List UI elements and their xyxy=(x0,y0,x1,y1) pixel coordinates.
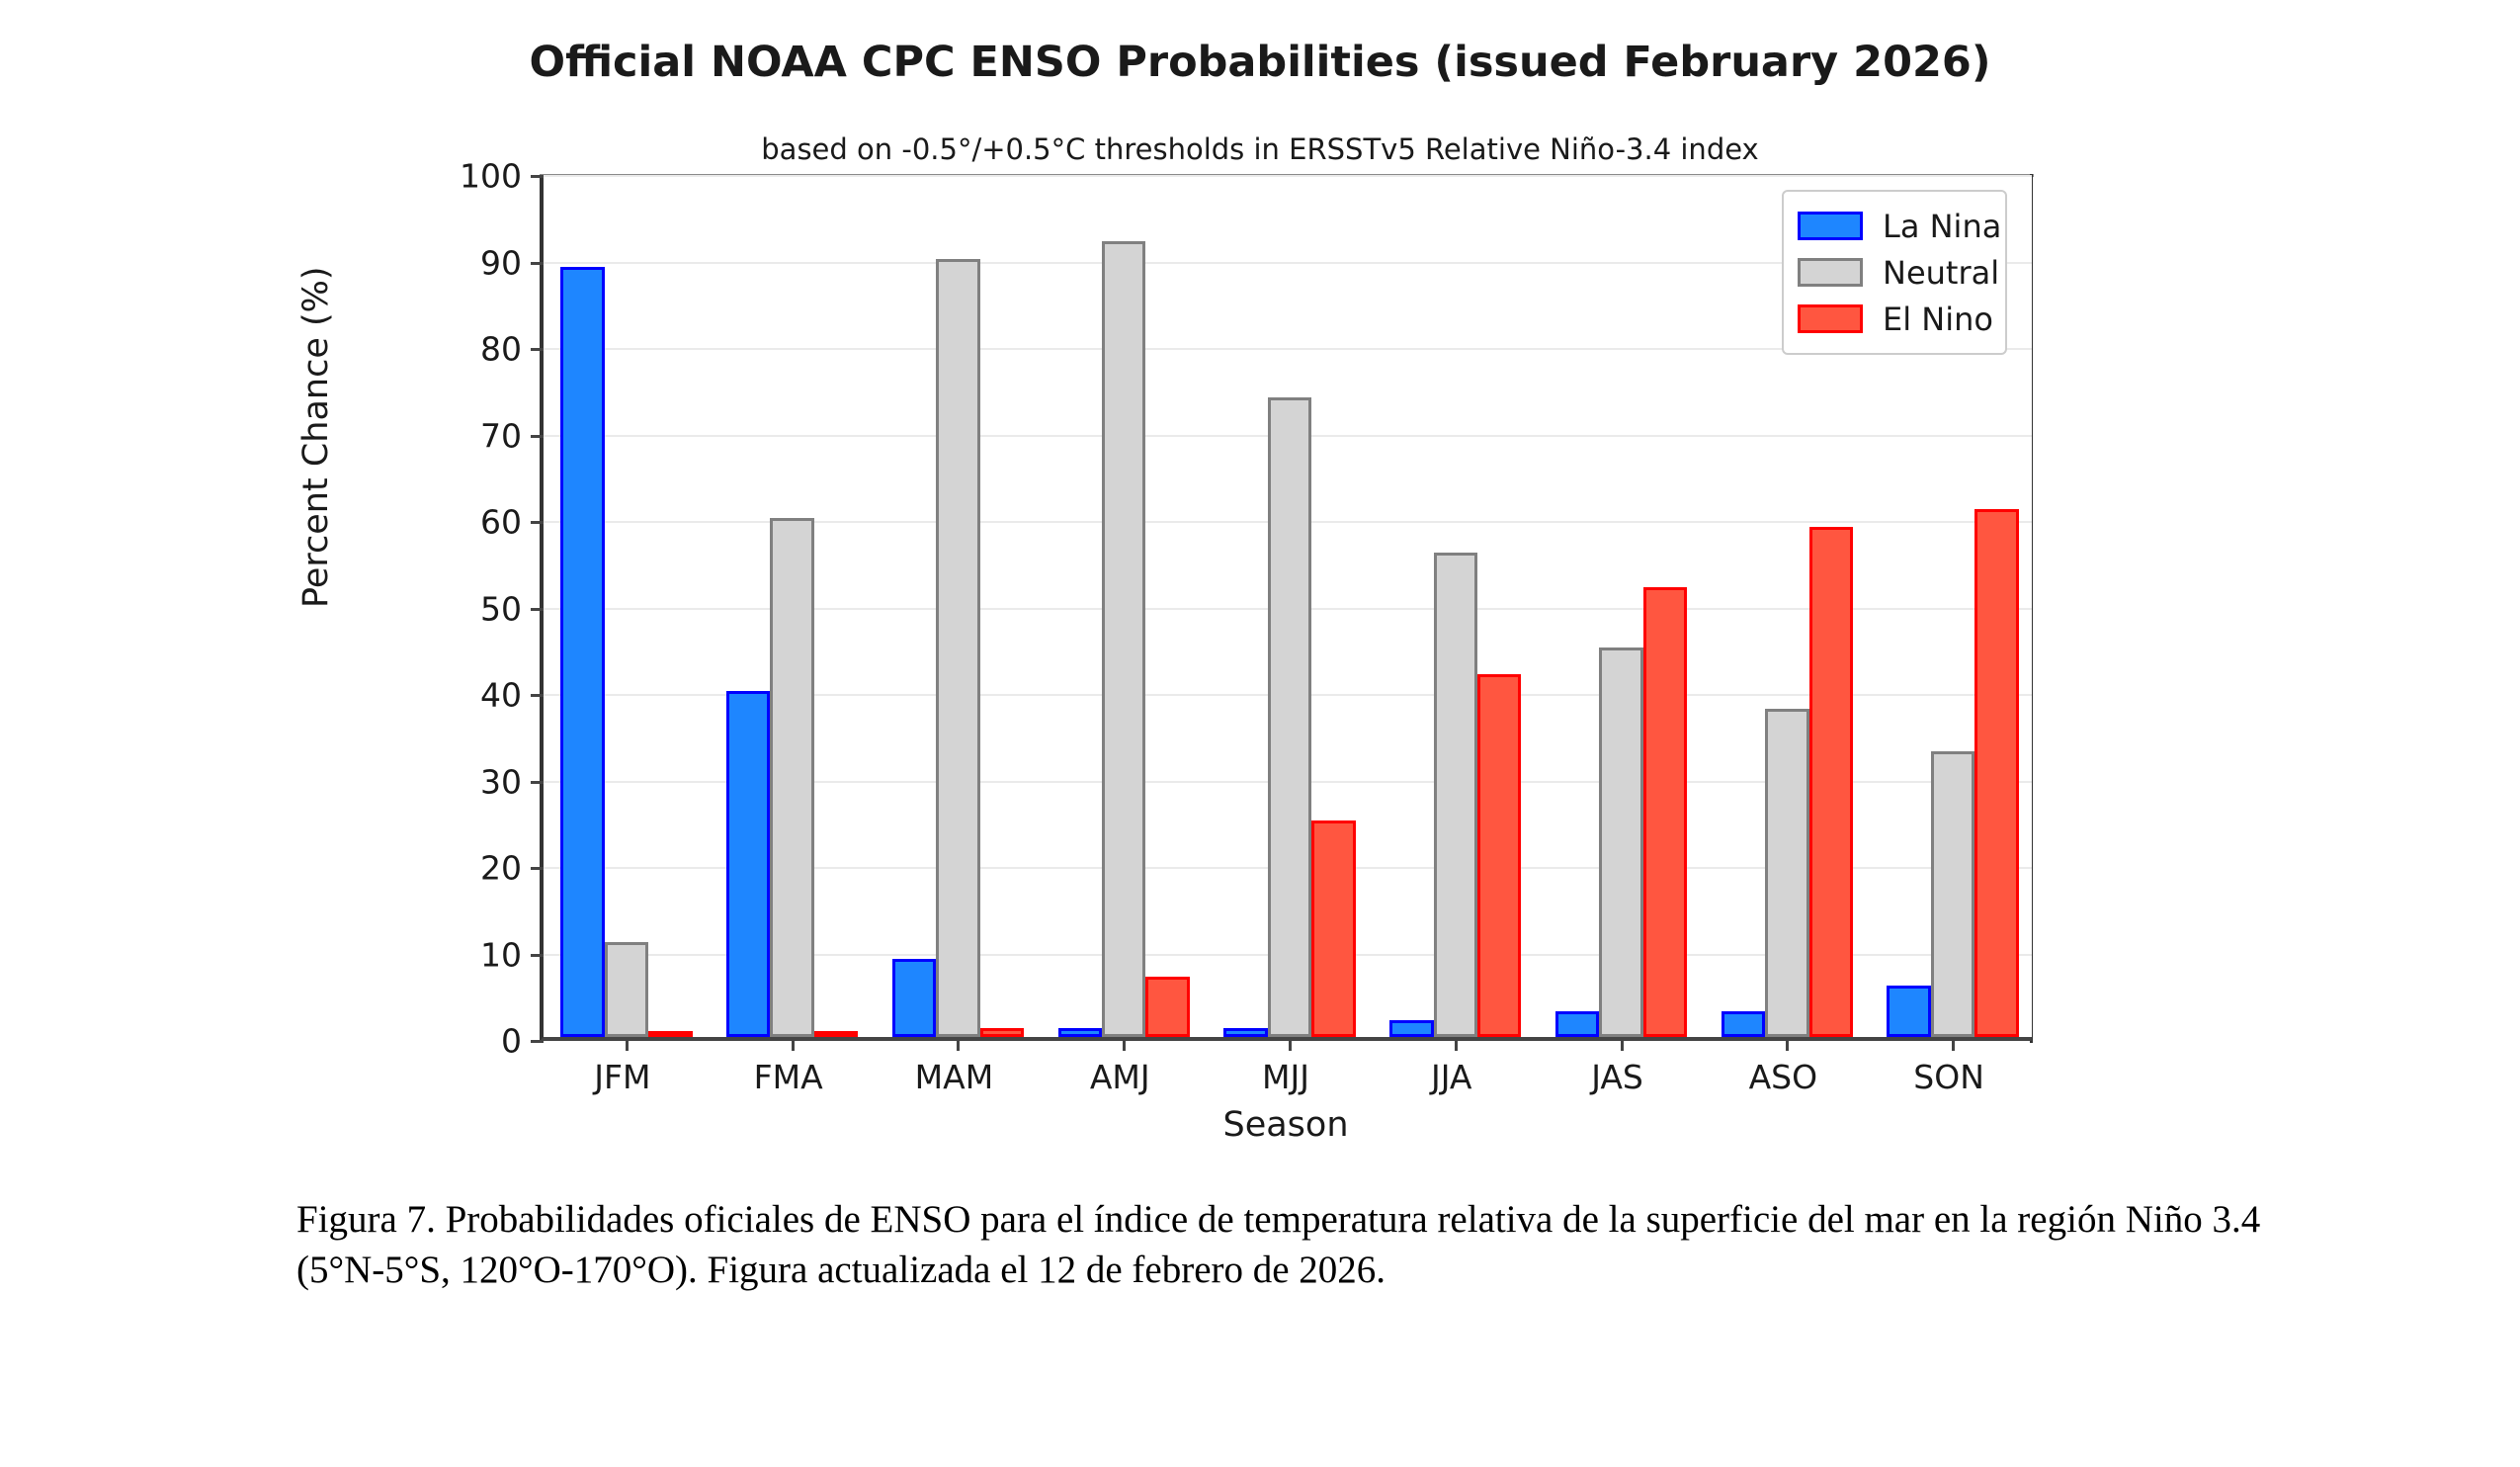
x-tick-label-fma: FMA xyxy=(754,1058,823,1096)
bar-la-nina-son xyxy=(1887,986,1930,1038)
x-tick-label-mjj: MJJ xyxy=(1262,1058,1309,1096)
y-tick-label: 10 xyxy=(480,935,522,974)
bar-el-nino-fma xyxy=(814,1031,858,1037)
y-tick-mark xyxy=(531,348,544,351)
bar-el-nino-aso xyxy=(1809,527,1853,1037)
y-tick-mark xyxy=(531,1040,544,1043)
x-tick-mark xyxy=(1123,1037,1126,1051)
y-tick-mark xyxy=(531,175,544,178)
legend: La NinaNeutralEl Nino xyxy=(1782,190,2007,355)
figure-caption: Figura 7. Probabilidades oficiales de EN… xyxy=(296,1194,2263,1296)
y-tick-mark xyxy=(531,435,544,438)
bar-el-nino-jja xyxy=(1477,674,1521,1038)
y-tick-mark xyxy=(531,694,544,697)
legend-swatch-icon xyxy=(1798,258,1863,287)
y-tick-label: 80 xyxy=(480,330,522,369)
bar-el-nino-amj xyxy=(1145,977,1189,1037)
y-tick-label: 20 xyxy=(480,849,522,888)
bar-neutral-amj xyxy=(1102,241,1145,1037)
x-tick-mark xyxy=(1455,1037,1458,1051)
bar-neutral-mjj xyxy=(1268,397,1311,1038)
bar-la-nina-fma xyxy=(726,691,770,1037)
y-tick-label: 70 xyxy=(480,416,522,455)
legend-label: El Nino xyxy=(1883,301,1993,338)
bar-la-nina-amj xyxy=(1058,1028,1102,1037)
y-tick-mark xyxy=(531,262,544,265)
y-tick-label: 30 xyxy=(480,762,522,801)
x-tick-mark xyxy=(1952,1037,1955,1051)
y-tick-label: 40 xyxy=(480,676,522,715)
y-axis-label: Percent Chance (%) xyxy=(296,266,336,608)
y-tick-mark xyxy=(531,781,544,784)
x-tick-mark xyxy=(1289,1037,1292,1051)
x-tick-label-son: SON xyxy=(1913,1058,1984,1096)
legend-item-la-nina[interactable]: La Nina xyxy=(1798,203,1991,249)
bar-el-nino-son xyxy=(1974,509,2018,1037)
y-tick-label: 0 xyxy=(501,1022,522,1061)
bar-la-nina-jja xyxy=(1389,1020,1433,1038)
bar-neutral-mam xyxy=(936,259,979,1038)
x-tick-label-jfm: JFM xyxy=(594,1058,650,1096)
bar-la-nina-mjj xyxy=(1223,1028,1267,1037)
y-tick-label: 60 xyxy=(480,503,522,542)
x-tick-mark xyxy=(792,1037,795,1051)
bar-el-nino-mam xyxy=(980,1028,1024,1037)
chart-subtitle: based on -0.5°/+0.5°C thresholds in ERSS… xyxy=(0,132,2520,166)
legend-swatch-icon xyxy=(1798,304,1863,333)
legend-label: Neutral xyxy=(1883,254,1999,292)
y-tick-mark xyxy=(531,954,544,957)
x-tick-label-amj: AMJ xyxy=(1090,1058,1150,1096)
legend-item-el-nino[interactable]: El Nino xyxy=(1798,296,1991,342)
x-tick-mark xyxy=(1786,1037,1789,1051)
legend-item-neutral[interactable]: Neutral xyxy=(1798,249,1991,296)
x-axis-label: Season xyxy=(540,1105,2032,1145)
y-tick-mark xyxy=(531,521,544,524)
bar-neutral-jja xyxy=(1434,553,1477,1037)
y-tick-label: 90 xyxy=(480,243,522,282)
bar-la-nina-mam xyxy=(892,959,936,1037)
x-tick-mark xyxy=(957,1037,960,1051)
bar-neutral-son xyxy=(1931,751,1974,1037)
bar-la-nina-jfm xyxy=(560,267,604,1037)
y-tick-mark xyxy=(531,867,544,870)
y-tick-label: 100 xyxy=(460,157,522,196)
y-tick-label: 50 xyxy=(480,589,522,628)
bar-neutral-jas xyxy=(1599,647,1642,1037)
legend-label: La Nina xyxy=(1883,208,2001,245)
bar-el-nino-mjj xyxy=(1311,820,1355,1037)
x-tick-label-jja: JJA xyxy=(1431,1058,1471,1096)
x-tick-label-mam: MAM xyxy=(915,1058,994,1096)
bar-la-nina-aso xyxy=(1722,1011,1765,1037)
chart-title: Official NOAA CPC ENSO Probabilities (is… xyxy=(0,38,2520,87)
x-tick-label-jas: JAS xyxy=(1591,1058,1643,1096)
x-tick-mark xyxy=(626,1037,629,1051)
bar-neutral-fma xyxy=(770,518,813,1037)
bar-neutral-jfm xyxy=(605,942,648,1037)
bar-la-nina-jas xyxy=(1555,1011,1599,1037)
bar-el-nino-jas xyxy=(1643,587,1687,1037)
bar-neutral-aso xyxy=(1765,709,1808,1038)
x-tick-mark xyxy=(1621,1037,1624,1051)
x-tick-label-aso: ASO xyxy=(1749,1058,1818,1096)
legend-swatch-icon xyxy=(1798,212,1863,240)
bar-el-nino-jfm xyxy=(648,1031,692,1037)
y-tick-mark xyxy=(531,608,544,611)
figure: Official NOAA CPC ENSO Probabilities (is… xyxy=(0,0,2520,1166)
